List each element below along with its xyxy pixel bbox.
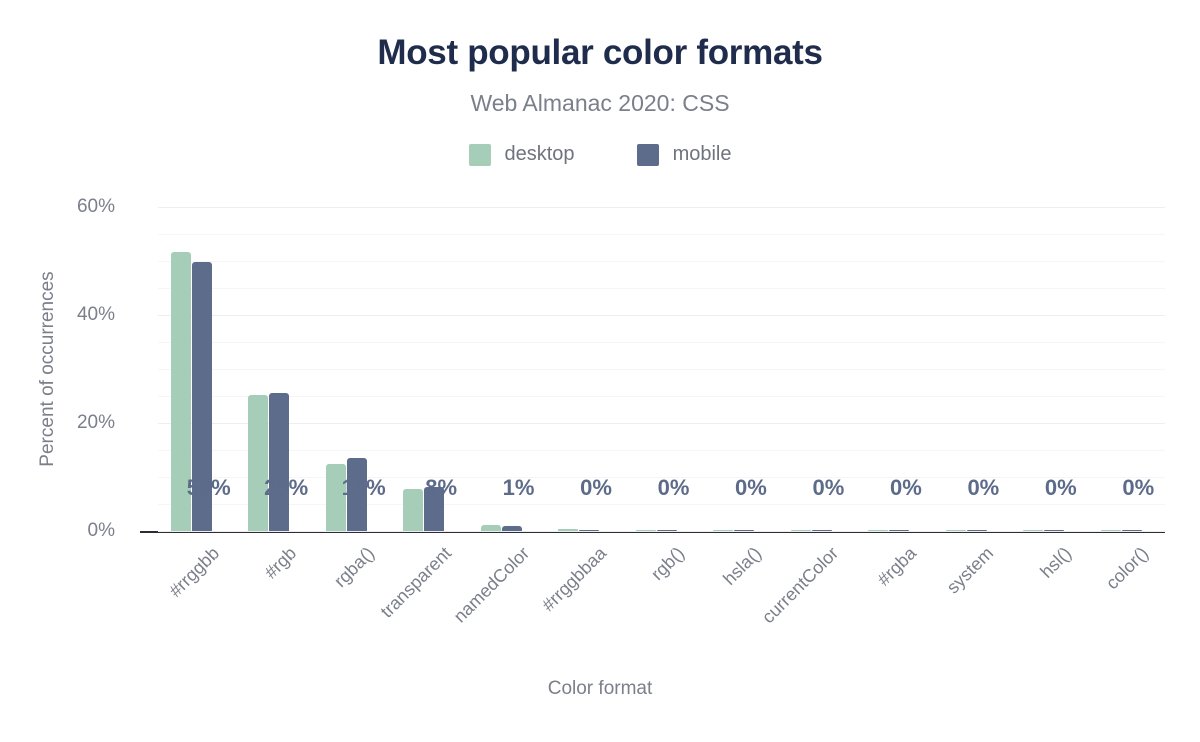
- x-tick-label-text: color(): [1102, 543, 1153, 594]
- bar-mobile[interactable]: [657, 530, 677, 531]
- bar-desktop[interactable]: [868, 530, 888, 531]
- legend-item-desktop[interactable]: desktop: [469, 143, 575, 166]
- plot-area: Percent of occurrences 0%20%40%60%50%#rr…: [158, 207, 1165, 531]
- x-tick-label: #rgba: [873, 543, 920, 590]
- x-tick-label: namedColor: [449, 543, 533, 627]
- legend-item-mobile[interactable]: mobile: [637, 143, 732, 166]
- y-tick-label: 60%: [0, 196, 115, 218]
- y-tick-label: 20%: [0, 412, 115, 434]
- bar-desktop[interactable]: [558, 529, 578, 531]
- bar-mobile[interactable]: [967, 530, 987, 531]
- x-tick-label: transparent: [377, 543, 456, 622]
- chart-legend: desktopmobile: [0, 143, 1200, 166]
- x-tick-label-text: #rrggbb: [165, 543, 224, 602]
- x-tick-label: hsla(): [719, 543, 766, 590]
- x-tick-label: #rgb: [261, 543, 301, 583]
- bar-mobile[interactable]: [579, 530, 599, 531]
- x-axis-title: Color format: [0, 678, 1200, 700]
- x-tick-label: rgba(): [330, 543, 379, 592]
- bar-desktop[interactable]: [636, 530, 656, 531]
- bar-mobile[interactable]: [1044, 530, 1064, 531]
- x-tick-label: #rrggbb: [165, 543, 224, 602]
- x-tick-label-text: rgba(): [330, 543, 379, 592]
- bar-desktop[interactable]: [481, 525, 501, 531]
- bar-desktop[interactable]: [248, 395, 268, 531]
- legend-swatch-icon: [637, 144, 659, 166]
- x-tick-label-text: hsla(): [719, 543, 766, 590]
- x-tick-label: color(): [1102, 543, 1153, 594]
- gridline-major: [158, 531, 1165, 532]
- x-tick-label-text: currentColor: [758, 543, 843, 628]
- x-tick-label-text: #rrggbbaa: [538, 543, 611, 616]
- y-axis-title: Percent of occurrences: [37, 219, 59, 519]
- bar-desktop[interactable]: [791, 530, 811, 531]
- bar-mobile[interactable]: [812, 530, 832, 531]
- x-tick-label-text: system: [943, 543, 998, 598]
- x-tick-label-text: rgb(): [647, 543, 689, 585]
- bar-mobile[interactable]: [502, 526, 522, 531]
- y-tick-label: 40%: [0, 304, 115, 326]
- bar-desktop[interactable]: [1023, 530, 1043, 531]
- x-tick-label: #rrggbbaa: [538, 543, 611, 616]
- legend-swatch-icon: [469, 144, 491, 166]
- chart-title: Most popular color formats: [0, 33, 1200, 73]
- chart-subtitle: Web Almanac 2020: CSS: [0, 90, 1200, 117]
- bar-data-label: 0%: [1078, 475, 1198, 501]
- bar-mobile[interactable]: [1122, 530, 1142, 531]
- bar-mobile[interactable]: [269, 393, 289, 531]
- x-tick-label-text: hsl(): [1036, 543, 1076, 583]
- x-tick-label-text: namedColor: [449, 543, 533, 627]
- x-tick-label-text: #rgba: [873, 543, 920, 590]
- legend-label: mobile: [673, 143, 732, 166]
- bar-desktop[interactable]: [946, 530, 966, 531]
- bar-mobile[interactable]: [889, 530, 909, 531]
- x-tick-label: rgb(): [647, 543, 689, 585]
- x-tick-label-text: #rgb: [261, 543, 301, 583]
- legend-label: desktop: [505, 143, 575, 166]
- x-tick-label: hsl(): [1036, 543, 1076, 583]
- bar-desktop[interactable]: [1101, 530, 1121, 531]
- x-tick-label-text: transparent: [377, 543, 456, 622]
- x-tick-label: system: [943, 543, 998, 598]
- chart-figure: Most popular color formats Web Almanac 2…: [0, 0, 1200, 742]
- y-tick-label: 0%: [0, 520, 115, 542]
- x-tick-label: currentColor: [758, 543, 843, 628]
- bar-desktop[interactable]: [713, 530, 733, 531]
- bar-mobile[interactable]: [734, 530, 754, 531]
